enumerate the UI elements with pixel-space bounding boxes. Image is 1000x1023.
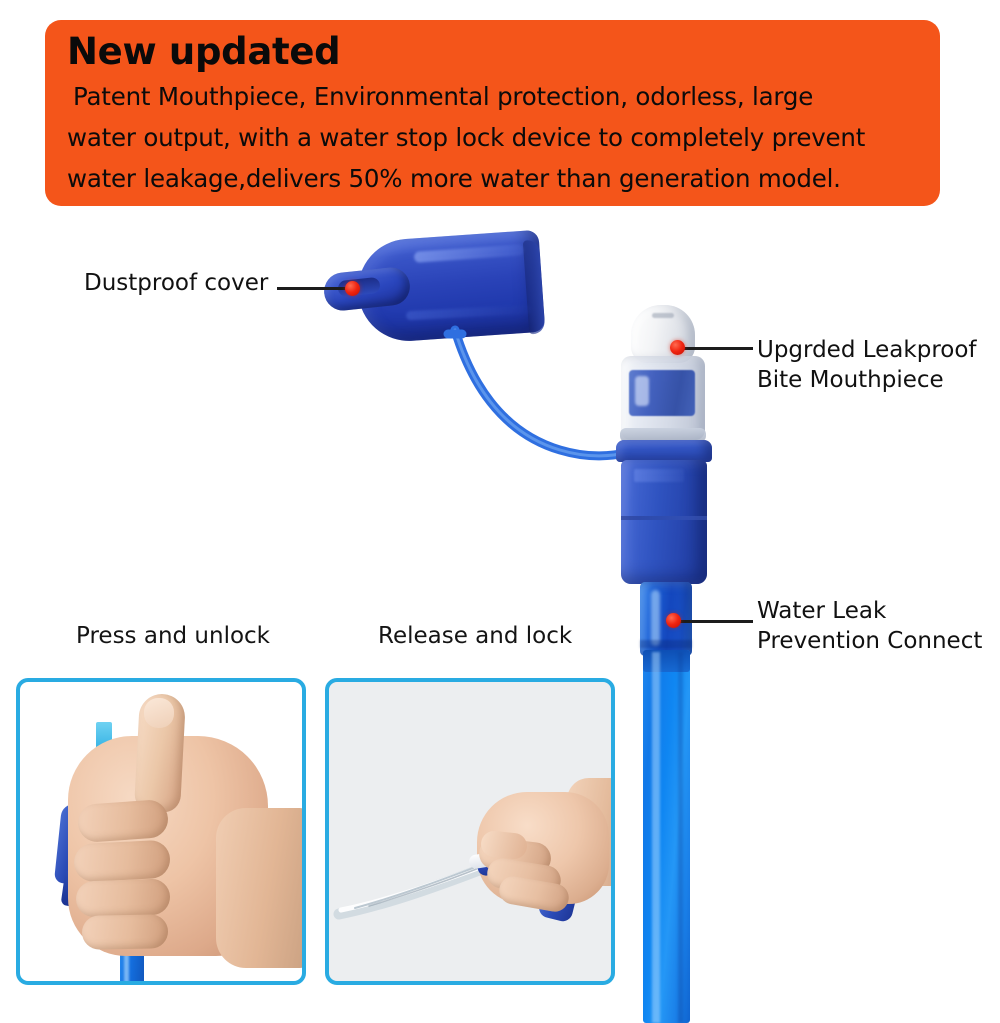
marker-dot-water-leak-prevention [666, 613, 681, 628]
collar-top-ring [616, 440, 712, 462]
photo-finger-index [77, 799, 169, 843]
valve-inner-highlight [635, 376, 649, 406]
product-infographic: New updated Patent Mouthpiece, Environme… [0, 0, 1000, 1023]
bite-valve-slit [652, 313, 674, 318]
photo-press-and-unlock [16, 678, 306, 985]
panel-caption-release-and-lock: Release and lock [378, 623, 572, 649]
tube-highlight-left [652, 652, 660, 1023]
callout-label-dustproof-cover: Dustproof cover [84, 268, 268, 298]
photo-thumbnail [144, 698, 174, 728]
tube-shadow-right [678, 652, 683, 1023]
collar-seam-line [621, 516, 707, 520]
marker-dot-bite-mouthpiece [670, 340, 685, 355]
connector-ridge [640, 640, 692, 648]
connector-highlight [651, 590, 660, 646]
callout-label-bite-mouthpiece: Upgrded Leakproof Bite Mouthpiece [757, 335, 977, 395]
callout-label-water-leak-prevention-line2: Prevention Connect [757, 626, 982, 656]
collar-embossed-text [634, 469, 684, 482]
leader-line-water-leak-prevention [676, 620, 753, 623]
photo-finger-middle [73, 840, 171, 883]
leader-line-dustproof-cover [277, 287, 353, 290]
photo-wrist [216, 808, 306, 968]
photo-release-and-lock [325, 678, 615, 985]
photo-finger-little [82, 914, 169, 949]
callout-label-water-leak-prevention-line1: Water Leak [757, 596, 982, 626]
panel-caption-press-and-unlock: Press and unlock [76, 623, 270, 649]
leader-line-bite-mouthpiece [680, 347, 753, 350]
callout-label-water-leak-prevention: Water Leak Prevention Connect [757, 596, 982, 656]
callout-label-bite-mouthpiece-line1: Upgrded Leakproof [757, 335, 977, 365]
photo-finger-ring [75, 878, 170, 917]
callout-label-bite-mouthpiece-line2: Bite Mouthpiece [757, 365, 977, 395]
marker-dot-dustproof-cover [345, 281, 360, 296]
